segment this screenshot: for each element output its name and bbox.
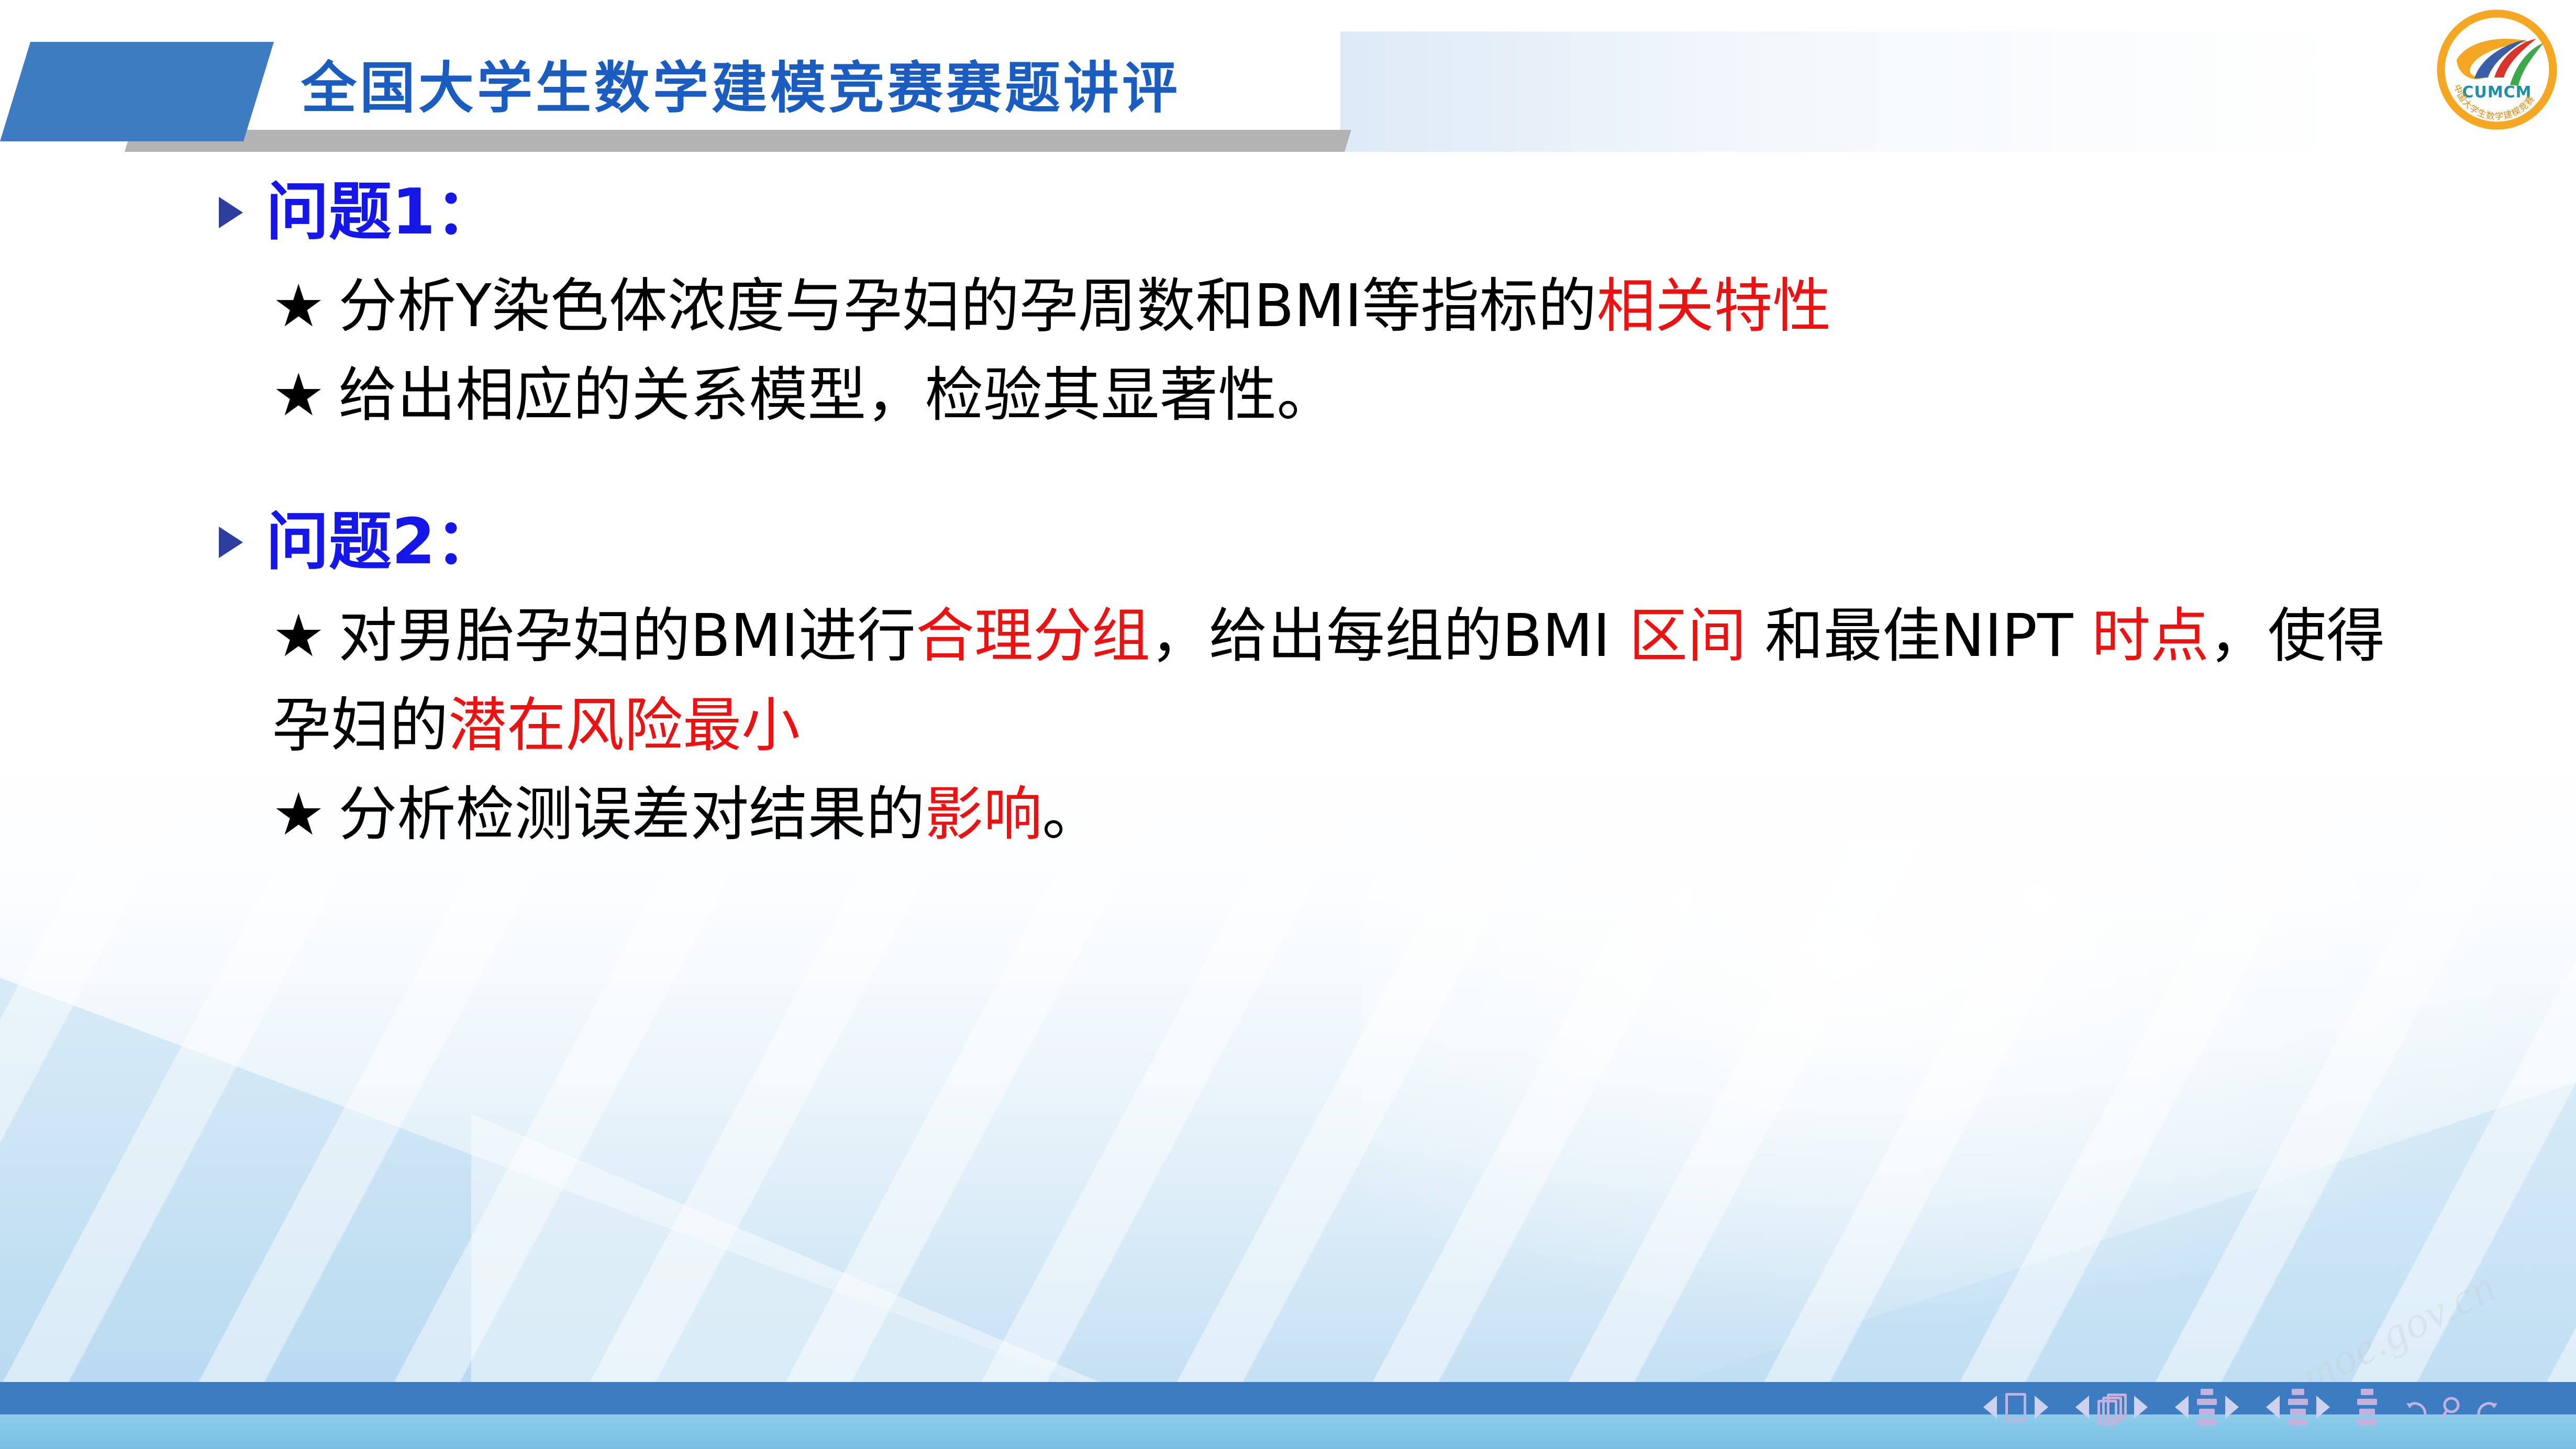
slide: 大 中国大学生在线 dxs.moe.gov.cn 全国大学生数学建模竞赛赛题讲评… [0,0,2576,1449]
bullet-segment-text: 给出相应的关系模型，检验其显著性。 [338,361,1335,429]
bullet-segment-highlight: 潜在风险最小 [448,692,800,760]
lines-icon[interactable] [2197,1389,2217,1425]
redo-arrow-icon[interactable] [2472,1394,2500,1421]
navigation-bar[interactable] [1983,1389,2513,1425]
section-spacer [0,440,2576,508]
triangle-left-icon[interactable] [2175,1396,2189,1419]
bullet-segment-text: 和最佳NIPT [1746,602,2092,670]
nav-group-toc[interactable] [2357,1389,2377,1425]
triangle-bullet-icon [219,197,243,228]
triangle-left-icon[interactable] [2266,1396,2280,1419]
triangle-right-icon[interactable] [2225,1396,2239,1419]
nav-group-subsection[interactable] [2075,1394,2148,1421]
question-1-bullet-2: ★给出相应的关系模型，检验其显著性。 [272,351,2398,440]
nav-group-history[interactable] [2404,1394,2500,1421]
bullet-segment-text: 分析Y染色体浓度与孕妇的孕周数和BMI等指标的 [338,272,1596,340]
cumcm-logo-icon: CUMCM 中国大学生数学建模竞赛 [2437,9,2557,130]
nav-group-section[interactable] [2175,1389,2239,1425]
lines-icon[interactable] [2288,1389,2308,1425]
triangle-right-icon[interactable] [2134,1396,2148,1419]
triangle-right-icon[interactable] [2316,1396,2330,1419]
bullet-segment-text: 对男胎孕妇的BMI进行 [338,602,916,670]
svg-text:CUMCM: CUMCM [2462,83,2531,102]
bullet-segment-highlight: 时点 [2092,602,2209,670]
nav-group-presentation[interactable] [2266,1389,2330,1425]
slide-header: 全国大学生数学建模竞赛赛题讲评 CUMCM 中国大学生数学建模竞赛 [0,0,2576,157]
question-1-heading: 问题1： [219,178,2576,247]
slide-content: 问题1： ★分析Y染色体浓度与孕妇的孕周数和BMI等指标的相关特性 ★给出相应的… [0,178,2576,859]
cumcm-logo: CUMCM 中国大学生数学建模竞赛 [2437,9,2557,130]
lines-icon[interactable] [2357,1389,2377,1425]
star-bullet-icon: ★ [272,602,325,670]
header-gradient-fade [1340,31,2335,152]
pages-stack-icon[interactable] [2097,1394,2126,1421]
bullet-segment-text: 。 [1042,781,1101,849]
question-2-heading: 问题2： [219,508,2576,577]
star-bullet-icon: ★ [272,272,325,340]
page-title: 全国大学生数学建模竞赛赛题讲评 [301,43,1181,124]
question-1-label: 问题1： [266,178,498,247]
search-icon[interactable] [2440,1394,2464,1421]
triangle-left-icon[interactable] [2075,1396,2089,1419]
triangle-right-icon[interactable] [2035,1396,2048,1419]
question-2-bullet-1: ★对男胎孕妇的BMI进行合理分组，给出每组的BMI 区间 和最佳NIPT 时点，… [272,592,2398,770]
page-icon[interactable] [2005,1393,2026,1421]
bullet-segment-text: 分析检测误差对结果的 [338,781,925,849]
bullet-segment-highlight: 区间 [1629,602,1746,670]
question-2-label: 问题2： [266,508,498,577]
bullet-segment-highlight: 相关特性 [1596,272,1831,340]
undo-arrow-icon[interactable] [2404,1394,2431,1421]
bullet-segment-highlight: 影响 [925,781,1042,849]
question-2-bullet-2: ★分析检测误差对结果的影响。 [272,770,2398,859]
question-1-bullet-1: ★分析Y染色体浓度与孕妇的孕周数和BMI等指标的相关特性 [272,262,2398,351]
bullet-segment-text: ，给出每组的BMI [1150,602,1629,670]
nav-group-frame[interactable] [1983,1393,2048,1421]
background-glow [1361,785,2576,1361]
bullet-segment-highlight: 合理分组 [916,602,1150,670]
triangle-left-icon[interactable] [1983,1396,1997,1419]
star-bullet-icon: ★ [272,361,325,429]
star-bullet-icon: ★ [272,781,325,849]
header-gray-bar [125,130,1351,152]
header-blue-block [0,42,240,141]
triangle-bullet-icon [219,527,243,558]
